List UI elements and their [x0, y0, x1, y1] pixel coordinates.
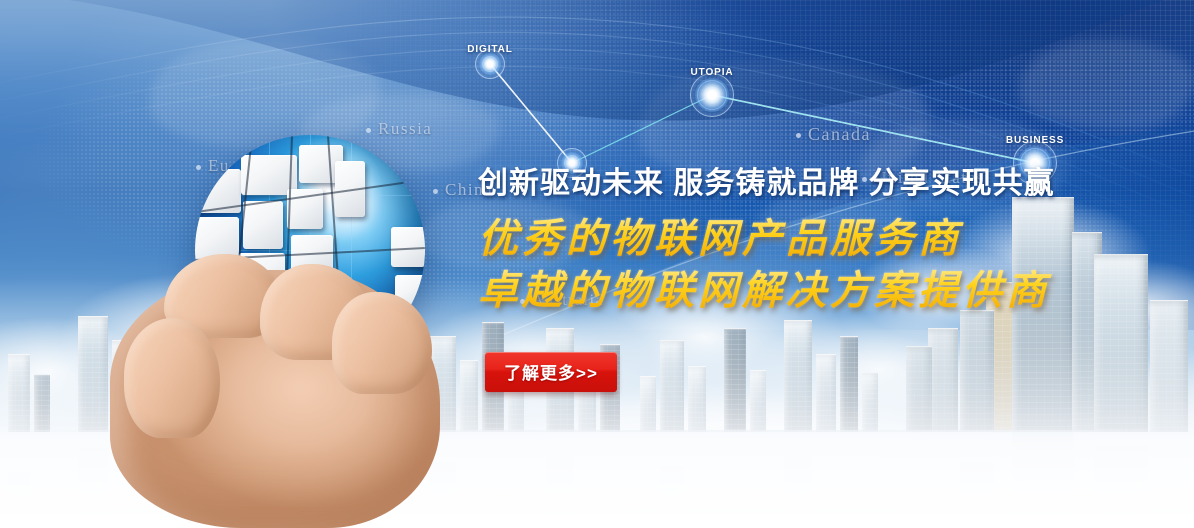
network-node-label: UTOPIA [691, 67, 734, 78]
network-node-utopia [690, 73, 734, 117]
hero-banner: RussiaEuChinaCanadaUnited StatesAustrali… [0, 0, 1194, 528]
banner-copy-block: 创新驱动未来 服务铸就品牌 分享实现共赢 优秀的物联网产品服务商 卓越的物联网解… [478, 166, 1078, 320]
subheadline-line-2: 卓越的物联网解决方案提供商 [478, 263, 1078, 320]
node-core-glow [479, 53, 501, 75]
globe-in-hand-graphic [110, 120, 470, 528]
network-node-label: DIGITAL [467, 44, 513, 55]
learn-more-button[interactable]: 了解更多>> [485, 352, 617, 392]
page-title: 创新驱动未来 服务铸就品牌 分享实现共赢 [478, 166, 1078, 203]
hand-holding-globe [110, 270, 440, 528]
subheadline-line-1: 优秀的物联网产品服务商 [478, 211, 1078, 268]
node-core-glow [695, 78, 729, 112]
